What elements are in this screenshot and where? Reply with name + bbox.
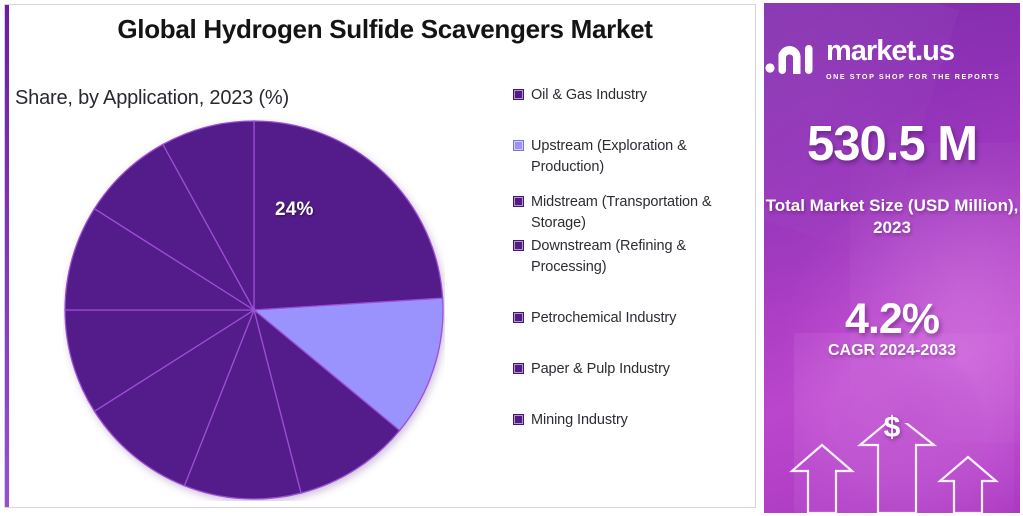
page-title: Global Hydrogen Sulfide Scavengers Marke… xyxy=(65,13,705,46)
legend-item[interactable]: Oil & Gas Industry xyxy=(513,85,741,106)
pie-slice-label-oil-gas: 24% xyxy=(275,199,314,221)
legend-item-label: Midstream (Transportation & Storage) xyxy=(531,192,741,234)
legend-item-label: Paper & Pulp Industry xyxy=(531,359,670,380)
legend-swatch-icon xyxy=(513,140,524,151)
legend-swatch-icon xyxy=(513,414,524,425)
pie-slice-group xyxy=(65,121,443,499)
legend-swatch-icon xyxy=(513,312,524,323)
logo-tagline: ONE STOP SHOP FOR THE REPORTS xyxy=(826,72,1000,81)
legend-item-label: Petrochemical Industry xyxy=(531,308,676,329)
legend-item[interactable]: Paper & Pulp Industry xyxy=(513,359,741,380)
market-us-logo: market.us ONE STOP SHOP FOR THE REPORTS xyxy=(764,37,1020,84)
legend-swatch-icon xyxy=(513,196,524,207)
chart-panel: Global Hydrogen Sulfide Scavengers Marke… xyxy=(4,4,756,508)
market-size-caption: Total Market Size (USD Million), 2023 xyxy=(764,195,1020,239)
legend-item[interactable]: Petrochemical Industry xyxy=(513,308,741,329)
legend-swatch-icon xyxy=(513,240,524,251)
legend-swatch-icon xyxy=(513,89,524,100)
cagr-value: 4.2% xyxy=(764,295,1020,344)
legend-swatch-icon xyxy=(513,363,524,374)
cagr-caption: CAGR 2024-2033 xyxy=(764,341,1020,362)
legend-item[interactable]: Upstream (Exploration & Production) xyxy=(513,136,741,178)
chart-subtitle: Share, by Application, 2023 (%) xyxy=(15,87,289,110)
legend-item[interactable]: Midstream (Transportation & Storage) xyxy=(513,192,741,234)
chart-legend: Oil & Gas IndustryUpstream (Exploration … xyxy=(513,85,741,431)
growth-arrows-icon xyxy=(764,423,1020,513)
infographic-page: Global Hydrogen Sulfide Scavengers Marke… xyxy=(0,0,1023,516)
pie-chart-svg xyxy=(63,119,445,501)
legend-item-label: Upstream (Exploration & Production) xyxy=(531,136,741,178)
legend-item[interactable]: Mining Industry xyxy=(513,410,741,431)
legend-item-label: Mining Industry xyxy=(531,410,628,431)
stats-panel: market.us ONE STOP SHOP FOR THE REPORTS … xyxy=(764,3,1020,513)
pie-chart: 24% xyxy=(63,119,445,501)
legend-item-label: Downstream (Refining & Processing) xyxy=(531,236,741,278)
logo-text: market.us ONE STOP SHOP FOR THE REPORTS xyxy=(826,37,1020,84)
logo-mark-icon xyxy=(764,41,818,80)
background-shape-2 xyxy=(850,143,1020,443)
legend-item-label: Oil & Gas Industry xyxy=(531,85,647,106)
logo-wordmark: market.us xyxy=(826,35,954,67)
market-size-value: 530.5 M xyxy=(764,116,1020,172)
legend-item[interactable]: Downstream (Refining & Processing) xyxy=(513,236,741,278)
